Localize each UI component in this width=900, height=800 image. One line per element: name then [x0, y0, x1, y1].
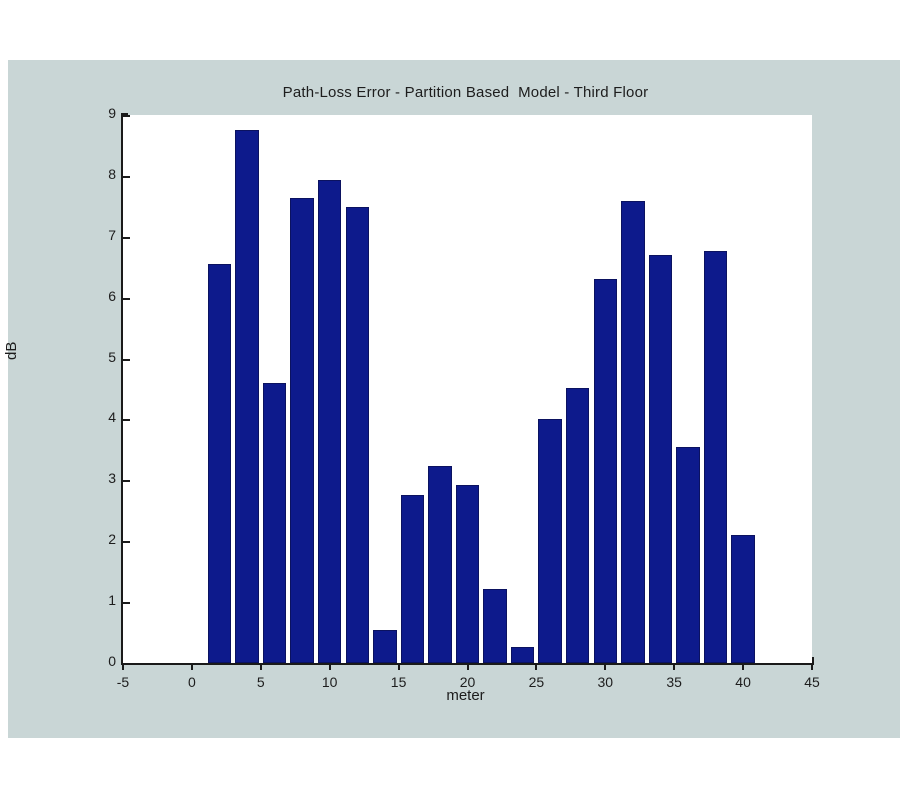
- x-tick-mark: [122, 663, 124, 670]
- bar: [235, 130, 258, 663]
- x-tick-mark: [260, 663, 262, 670]
- bar: [621, 201, 644, 663]
- y-tick-label: 5: [108, 349, 116, 365]
- y-tick-mark: [123, 663, 130, 665]
- bar: [704, 251, 727, 663]
- x-tick-label: 5: [257, 674, 265, 690]
- x-tick-mark: [811, 663, 813, 670]
- y-tick-label: 0: [108, 653, 116, 669]
- x-tick-label: 45: [804, 674, 820, 690]
- plot-axes: 0123456789 -5051015202530354045: [121, 115, 812, 665]
- bar: [511, 647, 534, 663]
- bar: [538, 419, 561, 663]
- y-tick-label: 9: [108, 105, 116, 121]
- y-tick-label: 2: [108, 531, 116, 547]
- chart-title: Path-Loss Error - Partition Based Model …: [121, 84, 810, 101]
- bar: [318, 180, 341, 663]
- x-tick-mark: [673, 663, 675, 670]
- bar: [373, 630, 396, 663]
- x-tick-label: 30: [598, 674, 614, 690]
- y-tick-label: 6: [108, 288, 116, 304]
- bar: [401, 495, 424, 663]
- x-tick-label: 10: [322, 674, 338, 690]
- y-tick-label: 1: [108, 592, 116, 608]
- bar-series: [123, 115, 812, 663]
- x-tick-label: 20: [460, 674, 476, 690]
- x-tick-label: 35: [666, 674, 682, 690]
- x-tick-mark: [191, 663, 193, 670]
- bar: [594, 279, 617, 663]
- x-tick-label: 40: [735, 674, 751, 690]
- bar: [263, 383, 286, 663]
- bar: [346, 207, 369, 663]
- y-tick-label: 4: [108, 409, 116, 425]
- bar: [456, 485, 479, 663]
- x-tick-mark: [742, 663, 744, 670]
- y-tick-label: 3: [108, 470, 116, 486]
- bar: [208, 264, 231, 663]
- x-tick-mark: [329, 663, 331, 670]
- y-axis-label: dB: [3, 342, 20, 360]
- x-tick-mark: [604, 663, 606, 670]
- bar: [483, 589, 506, 663]
- bar: [290, 198, 313, 663]
- bar: [566, 388, 589, 663]
- x-tick-label: 25: [529, 674, 545, 690]
- bar: [676, 447, 699, 663]
- bar: [649, 255, 672, 663]
- x-tick-label: 0: [188, 674, 196, 690]
- x-tick-label: 15: [391, 674, 407, 690]
- x-tick-mark: [535, 663, 537, 670]
- bar: [428, 466, 451, 663]
- x-tick-label: -5: [117, 674, 129, 690]
- matlab-figure-window: Path-Loss Error - Partition Based Model …: [8, 60, 900, 738]
- x-tick-mark: [398, 663, 400, 670]
- bar: [731, 535, 754, 663]
- y-tick-label: 8: [108, 166, 116, 182]
- y-tick-label: 7: [108, 227, 116, 243]
- x-tick-mark: [467, 663, 469, 670]
